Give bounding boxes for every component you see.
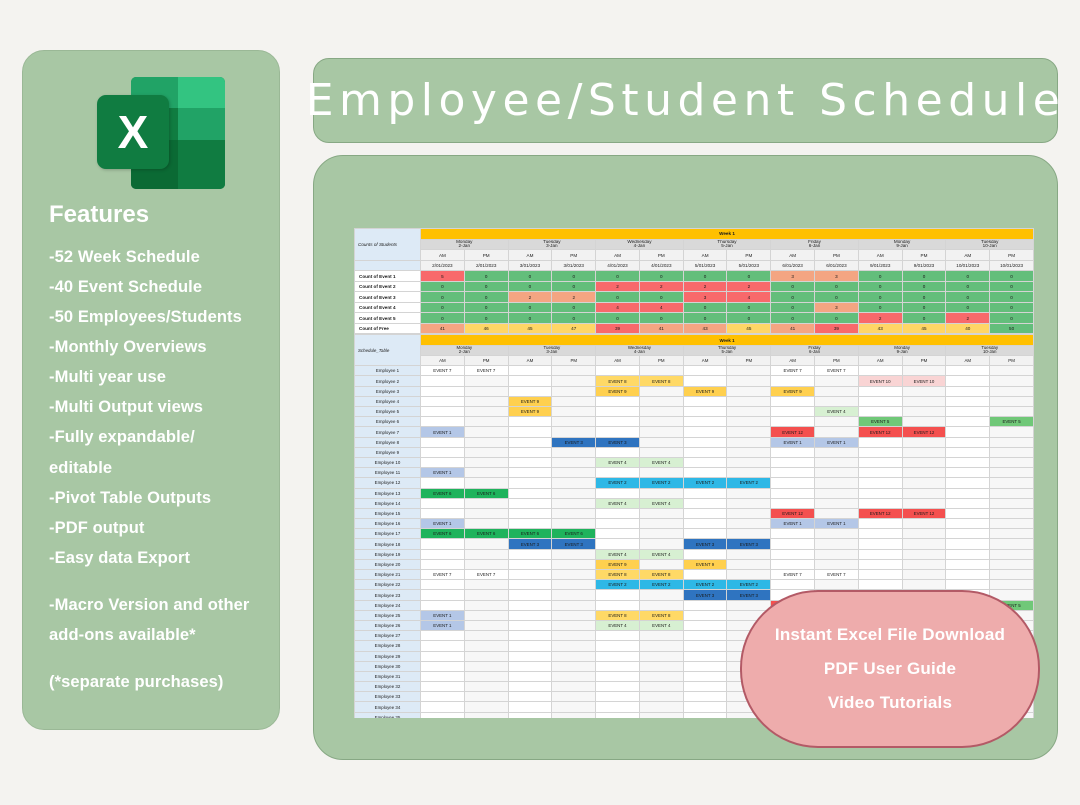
empty-cell[interactable] bbox=[552, 457, 596, 467]
event-cell[interactable]: EVENT 1 bbox=[815, 519, 859, 529]
empty-cell[interactable] bbox=[639, 386, 683, 396]
empty-cell[interactable] bbox=[902, 519, 946, 529]
empty-cell[interactable] bbox=[552, 468, 596, 478]
empty-cell[interactable] bbox=[421, 437, 465, 447]
empty-cell[interactable] bbox=[946, 539, 990, 549]
empty-cell[interactable] bbox=[596, 661, 640, 671]
empty-cell[interactable] bbox=[946, 407, 990, 417]
empty-cell[interactable] bbox=[464, 692, 508, 702]
empty-cell[interactable] bbox=[596, 488, 640, 498]
event-cell[interactable]: EVENT 7 bbox=[421, 570, 465, 580]
empty-cell[interactable] bbox=[858, 396, 902, 406]
empty-cell[interactable] bbox=[552, 366, 596, 376]
empty-cell[interactable] bbox=[639, 508, 683, 518]
event-cell[interactable]: EVENT 2 bbox=[683, 478, 727, 488]
empty-cell[interactable] bbox=[683, 529, 727, 539]
empty-cell[interactable] bbox=[552, 559, 596, 569]
empty-cell[interactable] bbox=[683, 508, 727, 518]
empty-cell[interactable] bbox=[552, 590, 596, 600]
empty-cell[interactable] bbox=[683, 682, 727, 692]
empty-cell[interactable] bbox=[639, 417, 683, 427]
empty-cell[interactable] bbox=[683, 570, 727, 580]
empty-cell[interactable] bbox=[727, 468, 771, 478]
empty-cell[interactable] bbox=[639, 529, 683, 539]
empty-cell[interactable] bbox=[508, 427, 552, 437]
empty-cell[interactable] bbox=[639, 651, 683, 661]
event-cell[interactable]: EVENT 1 bbox=[421, 620, 465, 630]
empty-cell[interactable] bbox=[464, 712, 508, 718]
empty-cell[interactable] bbox=[508, 488, 552, 498]
empty-cell[interactable] bbox=[508, 692, 552, 702]
empty-cell[interactable] bbox=[552, 682, 596, 692]
empty-cell[interactable] bbox=[639, 702, 683, 712]
empty-cell[interactable] bbox=[596, 366, 640, 376]
event-cell[interactable]: EVENT 8 bbox=[639, 570, 683, 580]
empty-cell[interactable] bbox=[639, 600, 683, 610]
empty-cell[interactable] bbox=[552, 417, 596, 427]
empty-cell[interactable] bbox=[552, 692, 596, 702]
empty-cell[interactable] bbox=[596, 671, 640, 681]
empty-cell[interactable] bbox=[508, 641, 552, 651]
event-cell[interactable]: EVENT 12 bbox=[858, 427, 902, 437]
empty-cell[interactable] bbox=[771, 396, 815, 406]
event-cell[interactable]: EVENT 3 bbox=[552, 539, 596, 549]
empty-cell[interactable] bbox=[683, 376, 727, 386]
empty-cell[interactable] bbox=[990, 559, 1034, 569]
empty-cell[interactable] bbox=[990, 468, 1034, 478]
event-cell[interactable]: EVENT 1 bbox=[421, 468, 465, 478]
empty-cell[interactable] bbox=[902, 488, 946, 498]
empty-cell[interactable] bbox=[596, 407, 640, 417]
empty-cell[interactable] bbox=[683, 702, 727, 712]
empty-cell[interactable] bbox=[990, 386, 1034, 396]
empty-cell[interactable] bbox=[421, 417, 465, 427]
empty-cell[interactable] bbox=[552, 447, 596, 457]
empty-cell[interactable] bbox=[683, 437, 727, 447]
empty-cell[interactable] bbox=[596, 468, 640, 478]
empty-cell[interactable] bbox=[727, 600, 771, 610]
event-cell[interactable]: EVENT 9 bbox=[508, 407, 552, 417]
empty-cell[interactable] bbox=[902, 468, 946, 478]
empty-cell[interactable] bbox=[946, 447, 990, 457]
empty-cell[interactable] bbox=[421, 478, 465, 488]
empty-cell[interactable] bbox=[421, 661, 465, 671]
empty-cell[interactable] bbox=[683, 549, 727, 559]
empty-cell[interactable] bbox=[421, 712, 465, 718]
empty-cell[interactable] bbox=[683, 641, 727, 651]
empty-cell[interactable] bbox=[508, 651, 552, 661]
empty-cell[interactable] bbox=[771, 407, 815, 417]
event-cell[interactable]: EVENT 2 bbox=[639, 580, 683, 590]
empty-cell[interactable] bbox=[596, 600, 640, 610]
empty-cell[interactable] bbox=[421, 702, 465, 712]
event-cell[interactable]: EVENT 10 bbox=[902, 376, 946, 386]
empty-cell[interactable] bbox=[508, 417, 552, 427]
empty-cell[interactable] bbox=[727, 559, 771, 569]
event-cell[interactable]: EVENT 3 bbox=[727, 590, 771, 600]
empty-cell[interactable] bbox=[683, 651, 727, 661]
empty-cell[interactable] bbox=[464, 417, 508, 427]
empty-cell[interactable] bbox=[596, 631, 640, 641]
empty-cell[interactable] bbox=[464, 549, 508, 559]
empty-cell[interactable] bbox=[815, 386, 859, 396]
empty-cell[interactable] bbox=[727, 508, 771, 518]
empty-cell[interactable] bbox=[858, 570, 902, 580]
empty-cell[interactable] bbox=[946, 427, 990, 437]
empty-cell[interactable] bbox=[990, 498, 1034, 508]
event-cell[interactable]: EVENT 7 bbox=[464, 366, 508, 376]
empty-cell[interactable] bbox=[990, 570, 1034, 580]
empty-cell[interactable] bbox=[727, 427, 771, 437]
empty-cell[interactable] bbox=[552, 376, 596, 386]
event-cell[interactable]: EVENT 7 bbox=[421, 366, 465, 376]
empty-cell[interactable] bbox=[902, 457, 946, 467]
event-cell[interactable]: EVENT 2 bbox=[596, 580, 640, 590]
empty-cell[interactable] bbox=[421, 580, 465, 590]
empty-cell[interactable] bbox=[508, 610, 552, 620]
empty-cell[interactable] bbox=[815, 529, 859, 539]
empty-cell[interactable] bbox=[815, 498, 859, 508]
empty-cell[interactable] bbox=[421, 386, 465, 396]
empty-cell[interactable] bbox=[596, 427, 640, 437]
empty-cell[interactable] bbox=[464, 386, 508, 396]
empty-cell[interactable] bbox=[421, 396, 465, 406]
empty-cell[interactable] bbox=[727, 396, 771, 406]
empty-cell[interactable] bbox=[464, 407, 508, 417]
empty-cell[interactable] bbox=[815, 478, 859, 488]
empty-cell[interactable] bbox=[815, 427, 859, 437]
empty-cell[interactable] bbox=[552, 712, 596, 718]
empty-cell[interactable] bbox=[683, 631, 727, 641]
empty-cell[interactable] bbox=[946, 519, 990, 529]
event-cell[interactable]: EVENT 1 bbox=[771, 519, 815, 529]
empty-cell[interactable] bbox=[771, 580, 815, 590]
empty-cell[interactable] bbox=[464, 447, 508, 457]
empty-cell[interactable] bbox=[990, 447, 1034, 457]
empty-cell[interactable] bbox=[902, 539, 946, 549]
empty-cell[interactable] bbox=[421, 651, 465, 661]
event-cell[interactable]: EVENT 4 bbox=[596, 549, 640, 559]
empty-cell[interactable] bbox=[421, 641, 465, 651]
empty-cell[interactable] bbox=[639, 396, 683, 406]
empty-cell[interactable] bbox=[990, 427, 1034, 437]
event-cell[interactable]: EVENT 9 bbox=[683, 559, 727, 569]
empty-cell[interactable] bbox=[858, 447, 902, 457]
event-cell[interactable]: EVENT 8 bbox=[596, 570, 640, 580]
empty-cell[interactable] bbox=[552, 549, 596, 559]
empty-cell[interactable] bbox=[946, 437, 990, 447]
empty-cell[interactable] bbox=[508, 631, 552, 641]
empty-cell[interactable] bbox=[990, 457, 1034, 467]
event-cell[interactable]: EVENT 2 bbox=[639, 478, 683, 488]
empty-cell[interactable] bbox=[990, 539, 1034, 549]
empty-cell[interactable] bbox=[815, 488, 859, 498]
empty-cell[interactable] bbox=[639, 692, 683, 702]
empty-cell[interactable] bbox=[639, 590, 683, 600]
empty-cell[interactable] bbox=[683, 457, 727, 467]
empty-cell[interactable] bbox=[508, 559, 552, 569]
empty-cell[interactable] bbox=[902, 570, 946, 580]
empty-cell[interactable] bbox=[552, 508, 596, 518]
empty-cell[interactable] bbox=[421, 549, 465, 559]
empty-cell[interactable] bbox=[902, 498, 946, 508]
empty-cell[interactable] bbox=[464, 376, 508, 386]
empty-cell[interactable] bbox=[683, 417, 727, 427]
empty-cell[interactable] bbox=[639, 631, 683, 641]
empty-cell[interactable] bbox=[464, 559, 508, 569]
empty-cell[interactable] bbox=[421, 447, 465, 457]
empty-cell[interactable] bbox=[552, 600, 596, 610]
empty-cell[interactable] bbox=[552, 396, 596, 406]
empty-cell[interactable] bbox=[858, 437, 902, 447]
empty-cell[interactable] bbox=[508, 590, 552, 600]
empty-cell[interactable] bbox=[596, 508, 640, 518]
empty-cell[interactable] bbox=[596, 712, 640, 718]
empty-cell[interactable] bbox=[946, 366, 990, 376]
empty-cell[interactable] bbox=[946, 457, 990, 467]
event-cell[interactable]: EVENT 4 bbox=[596, 498, 640, 508]
empty-cell[interactable] bbox=[552, 570, 596, 580]
empty-cell[interactable] bbox=[596, 539, 640, 549]
empty-cell[interactable] bbox=[421, 559, 465, 569]
empty-cell[interactable] bbox=[990, 549, 1034, 559]
empty-cell[interactable] bbox=[683, 692, 727, 702]
empty-cell[interactable] bbox=[771, 488, 815, 498]
event-cell[interactable]: EVENT 7 bbox=[815, 366, 859, 376]
empty-cell[interactable] bbox=[815, 559, 859, 569]
empty-cell[interactable] bbox=[727, 417, 771, 427]
empty-cell[interactable] bbox=[639, 661, 683, 671]
empty-cell[interactable] bbox=[421, 671, 465, 681]
empty-cell[interactable] bbox=[946, 549, 990, 559]
empty-cell[interactable] bbox=[552, 631, 596, 641]
event-cell[interactable]: EVENT 12 bbox=[858, 508, 902, 518]
empty-cell[interactable] bbox=[683, 661, 727, 671]
empty-cell[interactable] bbox=[421, 590, 465, 600]
empty-cell[interactable] bbox=[508, 386, 552, 396]
empty-cell[interactable] bbox=[639, 539, 683, 549]
empty-cell[interactable] bbox=[464, 478, 508, 488]
empty-cell[interactable] bbox=[771, 559, 815, 569]
empty-cell[interactable] bbox=[815, 539, 859, 549]
event-cell[interactable]: EVENT 3 bbox=[683, 539, 727, 549]
empty-cell[interactable] bbox=[771, 468, 815, 478]
empty-cell[interactable] bbox=[858, 468, 902, 478]
empty-cell[interactable] bbox=[464, 610, 508, 620]
empty-cell[interactable] bbox=[683, 396, 727, 406]
empty-cell[interactable] bbox=[508, 447, 552, 457]
empty-cell[interactable] bbox=[639, 519, 683, 529]
empty-cell[interactable] bbox=[596, 590, 640, 600]
empty-cell[interactable] bbox=[596, 417, 640, 427]
empty-cell[interactable] bbox=[902, 478, 946, 488]
empty-cell[interactable] bbox=[946, 488, 990, 498]
empty-cell[interactable] bbox=[639, 712, 683, 718]
event-cell[interactable]: EVENT 12 bbox=[902, 508, 946, 518]
empty-cell[interactable] bbox=[552, 610, 596, 620]
empty-cell[interactable] bbox=[727, 519, 771, 529]
empty-cell[interactable] bbox=[639, 671, 683, 681]
empty-cell[interactable] bbox=[596, 447, 640, 457]
empty-cell[interactable] bbox=[727, 498, 771, 508]
empty-cell[interactable] bbox=[683, 366, 727, 376]
empty-cell[interactable] bbox=[421, 631, 465, 641]
empty-cell[interactable] bbox=[815, 457, 859, 467]
empty-cell[interactable] bbox=[727, 549, 771, 559]
event-cell[interactable]: EVENT 4 bbox=[639, 620, 683, 630]
empty-cell[interactable] bbox=[683, 712, 727, 718]
empty-cell[interactable] bbox=[683, 671, 727, 681]
empty-cell[interactable] bbox=[946, 468, 990, 478]
empty-cell[interactable] bbox=[464, 661, 508, 671]
event-cell[interactable]: EVENT 3 bbox=[683, 590, 727, 600]
empty-cell[interactable] bbox=[727, 366, 771, 376]
empty-cell[interactable] bbox=[596, 519, 640, 529]
empty-cell[interactable] bbox=[946, 508, 990, 518]
empty-cell[interactable] bbox=[552, 702, 596, 712]
empty-cell[interactable] bbox=[421, 692, 465, 702]
event-cell[interactable]: EVENT 12 bbox=[771, 508, 815, 518]
empty-cell[interactable] bbox=[858, 488, 902, 498]
empty-cell[interactable] bbox=[683, 427, 727, 437]
empty-cell[interactable] bbox=[508, 712, 552, 718]
empty-cell[interactable] bbox=[990, 376, 1034, 386]
empty-cell[interactable] bbox=[508, 620, 552, 630]
empty-cell[interactable] bbox=[683, 447, 727, 457]
empty-cell[interactable] bbox=[421, 498, 465, 508]
event-cell[interactable]: EVENT 2 bbox=[727, 478, 771, 488]
empty-cell[interactable] bbox=[508, 671, 552, 681]
empty-cell[interactable] bbox=[639, 488, 683, 498]
event-cell[interactable]: EVENT 2 bbox=[683, 580, 727, 590]
empty-cell[interactable] bbox=[727, 570, 771, 580]
empty-cell[interactable] bbox=[727, 447, 771, 457]
event-cell[interactable]: EVENT 3 bbox=[727, 539, 771, 549]
event-cell[interactable]: EVENT 6 bbox=[421, 488, 465, 498]
empty-cell[interactable] bbox=[771, 549, 815, 559]
empty-cell[interactable] bbox=[990, 488, 1034, 498]
event-cell[interactable]: EVENT 1 bbox=[421, 427, 465, 437]
empty-cell[interactable] bbox=[771, 457, 815, 467]
empty-cell[interactable] bbox=[639, 682, 683, 692]
empty-cell[interactable] bbox=[815, 580, 859, 590]
empty-cell[interactable] bbox=[683, 407, 727, 417]
empty-cell[interactable] bbox=[990, 580, 1034, 590]
empty-cell[interactable] bbox=[902, 580, 946, 590]
empty-cell[interactable] bbox=[771, 478, 815, 488]
empty-cell[interactable] bbox=[464, 427, 508, 437]
empty-cell[interactable] bbox=[464, 396, 508, 406]
empty-cell[interactable] bbox=[639, 366, 683, 376]
empty-cell[interactable] bbox=[815, 417, 859, 427]
empty-cell[interactable] bbox=[771, 498, 815, 508]
empty-cell[interactable] bbox=[421, 407, 465, 417]
empty-cell[interactable] bbox=[815, 396, 859, 406]
empty-cell[interactable] bbox=[946, 376, 990, 386]
event-cell[interactable]: EVENT 8 bbox=[639, 376, 683, 386]
empty-cell[interactable] bbox=[464, 641, 508, 651]
empty-cell[interactable] bbox=[990, 529, 1034, 539]
empty-cell[interactable] bbox=[508, 580, 552, 590]
empty-cell[interactable] bbox=[990, 437, 1034, 447]
empty-cell[interactable] bbox=[508, 519, 552, 529]
event-cell[interactable]: EVENT 7 bbox=[771, 570, 815, 580]
empty-cell[interactable] bbox=[902, 529, 946, 539]
empty-cell[interactable] bbox=[639, 407, 683, 417]
event-cell[interactable]: EVENT 3 bbox=[508, 539, 552, 549]
empty-cell[interactable] bbox=[421, 600, 465, 610]
empty-cell[interactable] bbox=[552, 427, 596, 437]
empty-cell[interactable] bbox=[990, 366, 1034, 376]
empty-cell[interactable] bbox=[639, 468, 683, 478]
empty-cell[interactable] bbox=[508, 549, 552, 559]
empty-cell[interactable] bbox=[946, 498, 990, 508]
empty-cell[interactable] bbox=[508, 570, 552, 580]
empty-cell[interactable] bbox=[421, 376, 465, 386]
event-cell[interactable]: EVENT 8 bbox=[596, 610, 640, 620]
empty-cell[interactable] bbox=[552, 671, 596, 681]
empty-cell[interactable] bbox=[552, 478, 596, 488]
empty-cell[interactable] bbox=[596, 641, 640, 651]
empty-cell[interactable] bbox=[858, 519, 902, 529]
empty-cell[interactable] bbox=[552, 641, 596, 651]
empty-cell[interactable] bbox=[858, 539, 902, 549]
empty-cell[interactable] bbox=[464, 631, 508, 641]
empty-cell[interactable] bbox=[508, 437, 552, 447]
empty-cell[interactable] bbox=[552, 519, 596, 529]
empty-cell[interactable] bbox=[946, 559, 990, 569]
empty-cell[interactable] bbox=[508, 457, 552, 467]
empty-cell[interactable] bbox=[464, 590, 508, 600]
empty-cell[interactable] bbox=[990, 407, 1034, 417]
event-cell[interactable]: EVENT 7 bbox=[815, 570, 859, 580]
empty-cell[interactable] bbox=[596, 529, 640, 539]
empty-cell[interactable] bbox=[464, 457, 508, 467]
event-cell[interactable]: EVENT 2 bbox=[596, 478, 640, 488]
empty-cell[interactable] bbox=[858, 549, 902, 559]
empty-cell[interactable] bbox=[771, 529, 815, 539]
empty-cell[interactable] bbox=[902, 559, 946, 569]
empty-cell[interactable] bbox=[946, 396, 990, 406]
empty-cell[interactable] bbox=[464, 620, 508, 630]
empty-cell[interactable] bbox=[815, 376, 859, 386]
event-cell[interactable]: EVENT 9 bbox=[596, 386, 640, 396]
event-cell[interactable]: EVENT 4 bbox=[596, 620, 640, 630]
event-cell[interactable]: EVENT 6 bbox=[508, 529, 552, 539]
empty-cell[interactable] bbox=[596, 692, 640, 702]
empty-cell[interactable] bbox=[552, 498, 596, 508]
empty-cell[interactable] bbox=[464, 519, 508, 529]
empty-cell[interactable] bbox=[508, 702, 552, 712]
empty-cell[interactable] bbox=[508, 376, 552, 386]
empty-cell[interactable] bbox=[683, 519, 727, 529]
empty-cell[interactable] bbox=[508, 468, 552, 478]
event-cell[interactable]: EVENT 10 bbox=[858, 376, 902, 386]
empty-cell[interactable] bbox=[771, 447, 815, 457]
empty-cell[interactable] bbox=[902, 447, 946, 457]
empty-cell[interactable] bbox=[902, 437, 946, 447]
empty-cell[interactable] bbox=[596, 396, 640, 406]
event-cell[interactable]: EVENT 4 bbox=[639, 457, 683, 467]
event-cell[interactable]: EVENT 3 bbox=[596, 437, 640, 447]
empty-cell[interactable] bbox=[946, 529, 990, 539]
empty-cell[interactable] bbox=[552, 580, 596, 590]
empty-cell[interactable] bbox=[639, 641, 683, 651]
empty-cell[interactable] bbox=[508, 508, 552, 518]
event-cell[interactable]: EVENT 3 bbox=[552, 437, 596, 447]
empty-cell[interactable] bbox=[464, 580, 508, 590]
empty-cell[interactable] bbox=[552, 620, 596, 630]
